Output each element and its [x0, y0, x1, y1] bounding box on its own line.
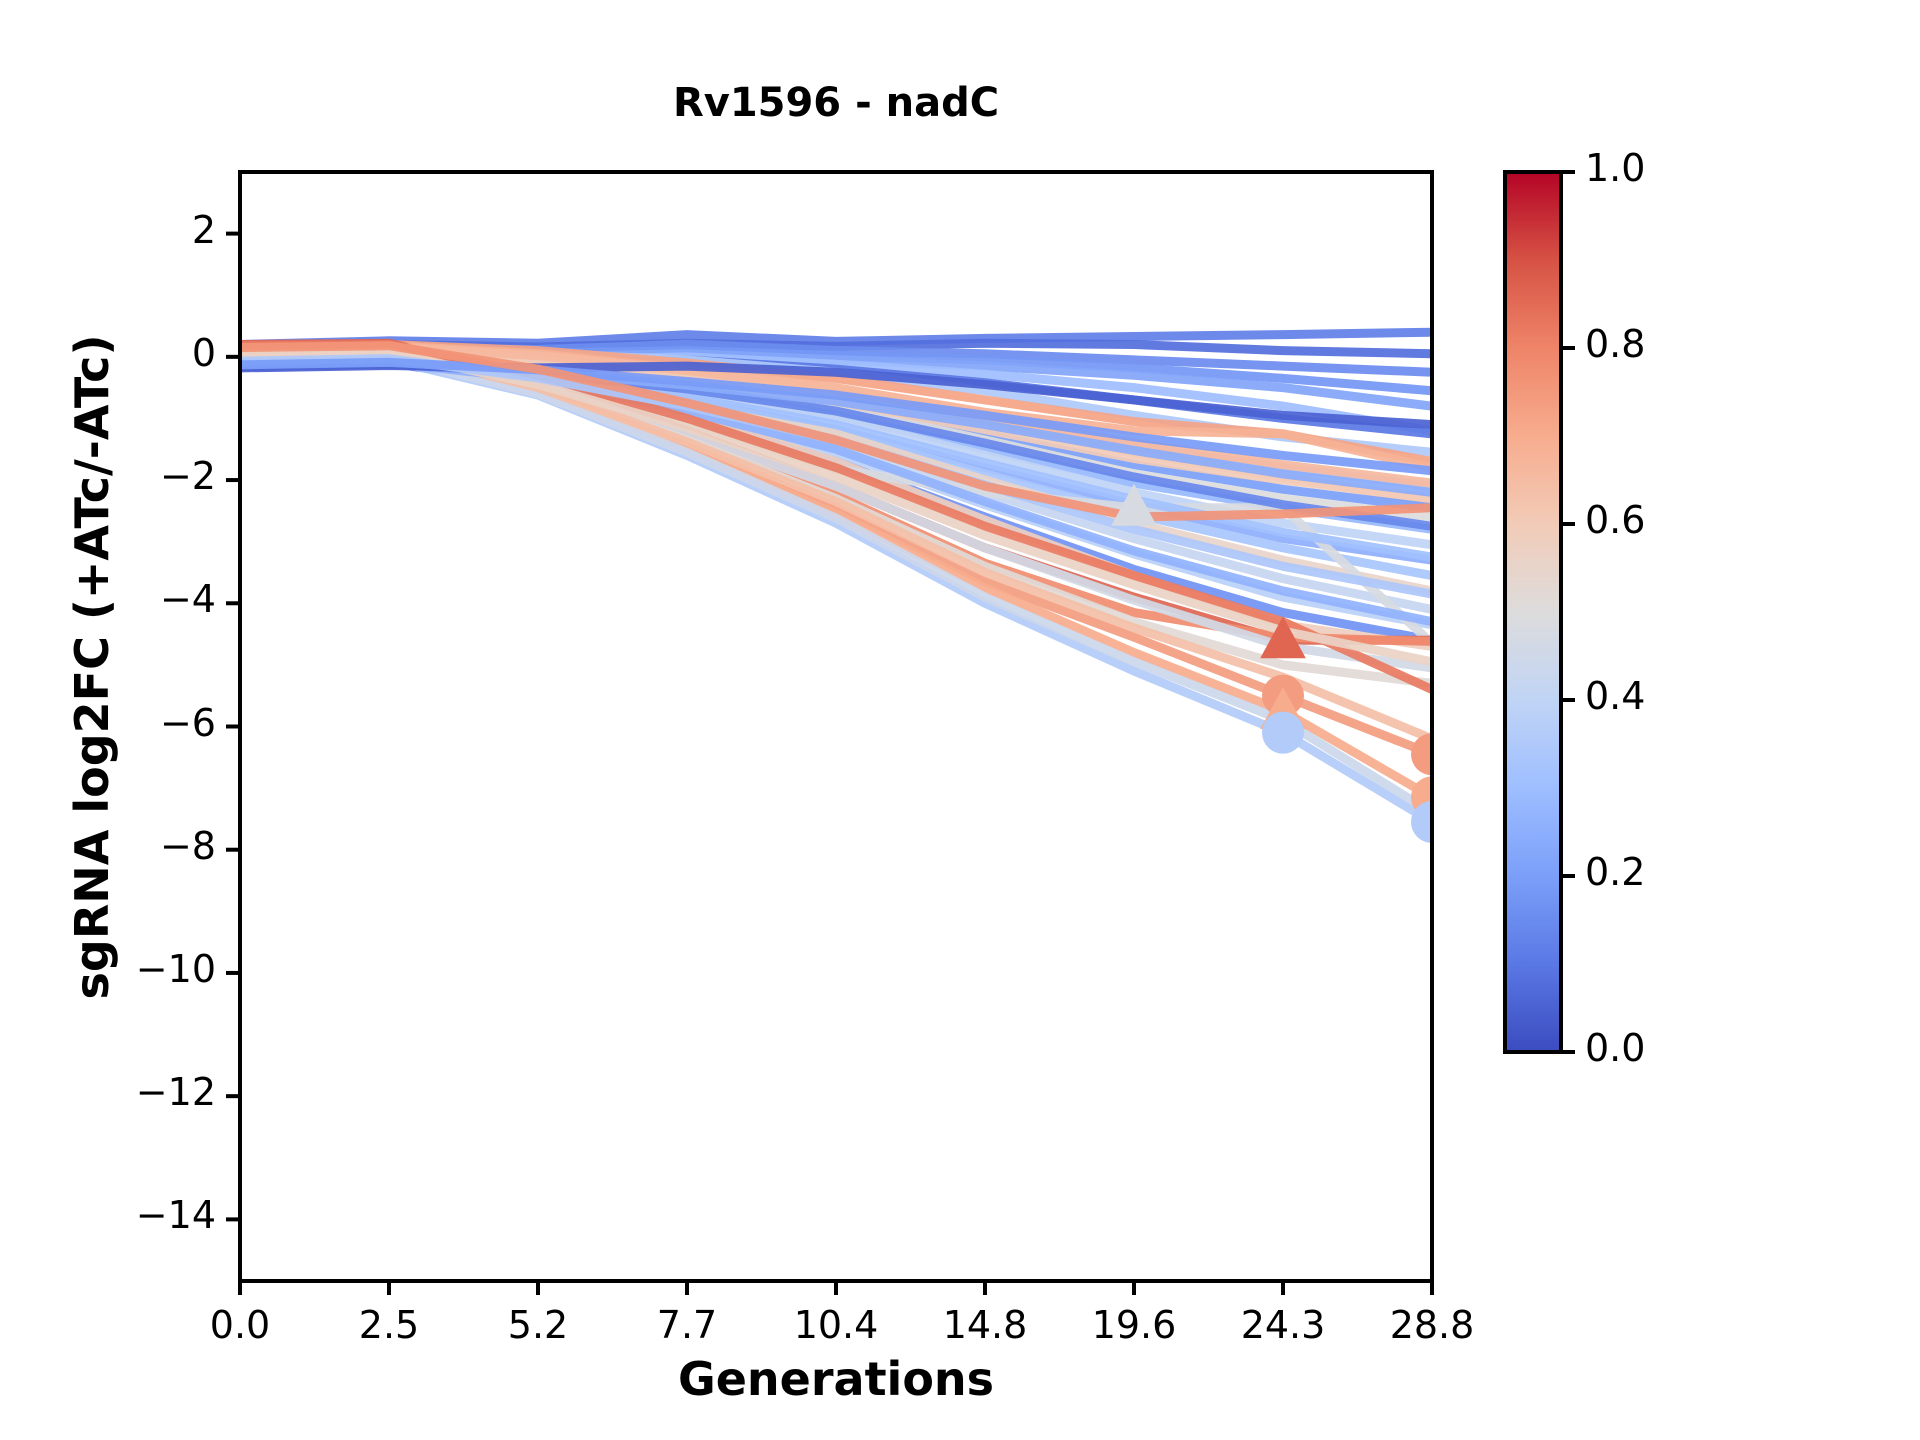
y-tick-label: −4: [0, 577, 216, 621]
endpoint-circle-marker: [1262, 712, 1304, 754]
x-tick-label: 0.0: [160, 1303, 320, 1347]
y-tick-label: 0: [0, 331, 216, 375]
y-tick-label: −6: [0, 701, 216, 745]
x-tick-label: 7.7: [607, 1303, 767, 1347]
colorbar-tick-label: 0.0: [1585, 1026, 1645, 1070]
colorbar-tick-label: 1.0: [1585, 146, 1645, 190]
figure-canvas: Rv1596 - nadC sgRNA log2FC (+ATc/-ATc) G…: [0, 0, 1920, 1440]
colorbar-tick-label: 0.2: [1585, 850, 1645, 894]
x-tick-label: 24.3: [1203, 1303, 1363, 1347]
x-tick-label: 2.5: [309, 1303, 469, 1347]
colorbar-ticks: [1561, 172, 1575, 1052]
x-tick-label: 10.4: [756, 1303, 916, 1347]
x-tick-label: 5.2: [458, 1303, 618, 1347]
y-tick-label: −8: [0, 824, 216, 868]
colorbar-tick-label: 0.6: [1585, 498, 1645, 542]
x-tick-label: 28.8: [1352, 1303, 1512, 1347]
x-tick-label: 14.8: [905, 1303, 1065, 1347]
y-tick-label: −12: [0, 1070, 216, 1114]
plot-area: [0, 0, 1920, 1440]
y-ticks: [226, 234, 240, 1220]
x-ticks: [240, 1281, 1432, 1295]
y-tick-label: −14: [0, 1193, 216, 1237]
colorbar-tick-label: 0.4: [1585, 674, 1645, 718]
y-tick-label: −10: [0, 947, 216, 991]
colorbar-tick-label: 0.8: [1585, 322, 1645, 366]
x-tick-label: 19.6: [1054, 1303, 1214, 1347]
y-tick-label: 2: [0, 208, 216, 252]
y-tick-label: −2: [0, 454, 216, 498]
colorbar: [1505, 172, 1561, 1052]
